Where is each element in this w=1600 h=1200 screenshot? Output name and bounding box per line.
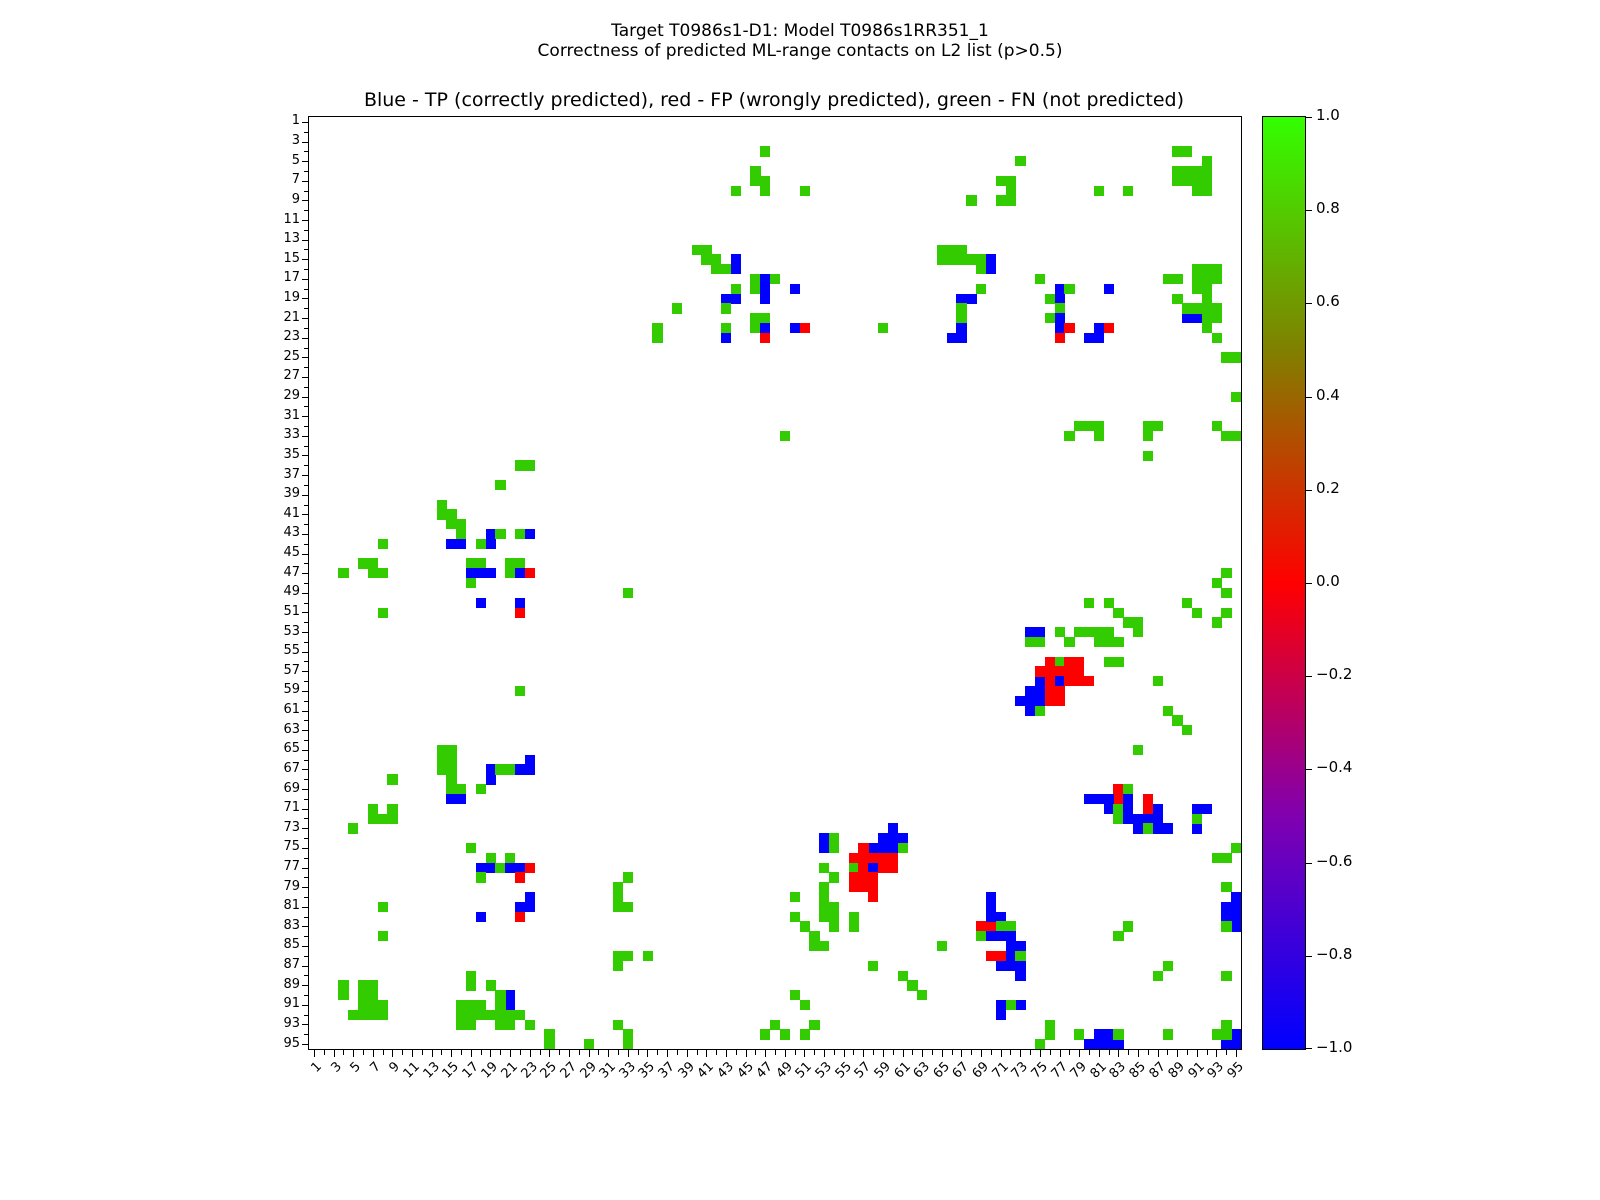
contact-cell — [888, 853, 898, 863]
contact-cell — [750, 284, 760, 294]
contact-cell — [623, 1039, 633, 1049]
contact-cell — [1212, 264, 1222, 274]
colorbar-tick-label: 1.0 — [1316, 108, 1340, 123]
contact-cell — [1055, 284, 1065, 294]
contact-cell — [780, 431, 790, 441]
contact-cell — [368, 558, 378, 568]
contact-cell — [849, 853, 859, 863]
y-tick-major — [302, 279, 309, 280]
contact-cell — [378, 1000, 388, 1010]
contact-cell — [858, 882, 868, 892]
contact-cell — [790, 990, 800, 1000]
y-tick-major — [302, 220, 309, 221]
contact-cell — [466, 578, 476, 588]
x-tick-major — [1079, 1050, 1080, 1057]
y-tick-label: 73 — [262, 821, 300, 834]
contact-cell — [672, 303, 682, 313]
contact-cell — [1015, 951, 1025, 961]
y-tick-major — [302, 455, 309, 456]
contact-cell — [446, 539, 456, 549]
contact-cell — [446, 794, 456, 804]
x-tick — [500, 1050, 501, 1055]
contact-cell — [1153, 971, 1163, 981]
contact-cell — [1143, 804, 1153, 814]
contact-cell — [790, 892, 800, 902]
contact-cell — [996, 1010, 1006, 1020]
y-tick-label: 23 — [262, 330, 300, 343]
y-tick-label: 27 — [262, 369, 300, 382]
contact-cell — [1143, 794, 1153, 804]
contact-cell — [1182, 303, 1192, 313]
contact-cell — [986, 951, 996, 961]
colorbar-tick — [1306, 303, 1312, 304]
contact-cell — [623, 951, 633, 961]
contact-cell — [515, 863, 525, 873]
contact-cell — [849, 921, 859, 931]
y-tick-label: 3 — [262, 134, 300, 147]
contact-cell — [858, 853, 868, 863]
contact-cell — [358, 990, 368, 1000]
y-tick-label: 11 — [262, 213, 300, 226]
contact-cell — [1055, 686, 1065, 696]
y-tick — [304, 740, 309, 741]
contact-cell — [868, 892, 878, 902]
contact-cell — [1123, 804, 1133, 814]
contact-cell — [1212, 617, 1222, 627]
x-tick-major — [1099, 1050, 1100, 1057]
colorbar-tick-label: 0.0 — [1316, 574, 1340, 589]
contact-cell — [947, 245, 957, 255]
contact-cell — [878, 863, 888, 873]
x-tick-major — [549, 1050, 550, 1057]
contact-cell — [476, 539, 486, 549]
contact-cell — [996, 961, 1006, 971]
contact-cell — [446, 774, 456, 784]
contact-cell — [721, 333, 731, 343]
contact-cell — [1084, 333, 1094, 343]
contact-cell — [1163, 706, 1173, 716]
x-tick-major — [432, 1050, 433, 1057]
figure-canvas: Target T0986s1-D1: Model T0986s1RR351_1 … — [0, 0, 1600, 1200]
contact-cell — [1113, 784, 1123, 794]
x-tick — [1207, 1050, 1208, 1055]
y-tick-label: 71 — [262, 801, 300, 814]
y-tick-label: 39 — [262, 487, 300, 500]
contact-cell — [466, 1020, 476, 1030]
contact-cell — [956, 313, 966, 323]
contact-cell — [368, 980, 378, 990]
contact-cell — [956, 333, 966, 343]
contact-cell — [1163, 961, 1173, 971]
x-tick-major — [844, 1050, 845, 1057]
x-tick — [618, 1050, 619, 1055]
contact-cell — [976, 254, 986, 264]
contact-cell — [1094, 186, 1104, 196]
contact-cell — [1055, 294, 1065, 304]
x-tick-major — [314, 1050, 315, 1057]
contact-cell — [525, 902, 535, 912]
x-tick — [657, 1050, 658, 1055]
contact-cell — [1202, 323, 1212, 333]
contact-cell — [966, 254, 976, 264]
contact-cell — [1212, 313, 1222, 323]
contact-cell — [525, 529, 535, 539]
contact-cell — [809, 1020, 819, 1030]
contact-cell — [996, 912, 1006, 922]
contact-cell — [1084, 794, 1094, 804]
y-tick — [304, 838, 309, 839]
contact-cell — [1163, 274, 1173, 284]
x-tick-major — [1020, 1050, 1021, 1057]
x-tick — [1167, 1050, 1168, 1055]
y-tick-major — [302, 828, 309, 829]
contact-cell — [868, 882, 878, 892]
contact-cell — [849, 882, 859, 892]
colorbar-tick — [1306, 1048, 1312, 1049]
x-tick — [755, 1050, 756, 1055]
colorbar-tick — [1306, 863, 1312, 864]
contact-cell — [623, 902, 633, 912]
contact-cell — [446, 745, 456, 755]
y-tick-label: 49 — [262, 585, 300, 598]
x-tick-major — [785, 1050, 786, 1057]
contact-cell — [1104, 637, 1114, 647]
contact-cell — [1084, 598, 1094, 608]
contact-cell — [1192, 284, 1202, 294]
contact-cell — [770, 1020, 780, 1030]
contact-cell — [1045, 657, 1055, 667]
contact-cell — [338, 568, 348, 578]
x-tick-major — [942, 1050, 943, 1057]
contact-cell — [790, 912, 800, 922]
x-tick — [441, 1050, 442, 1055]
contact-cell — [1212, 333, 1222, 343]
contact-cell — [525, 764, 535, 774]
contact-cell — [1025, 686, 1035, 696]
contact-cell — [476, 598, 486, 608]
contact-cell — [446, 755, 456, 765]
contact-cell — [1045, 686, 1055, 696]
contact-cell — [790, 284, 800, 294]
contact-cell — [1221, 902, 1231, 912]
contact-cell — [378, 1010, 388, 1020]
contact-cell — [1015, 156, 1025, 166]
contact-cell — [525, 892, 535, 902]
y-tick-label: 45 — [262, 546, 300, 559]
contact-cell — [800, 186, 810, 196]
x-tick — [461, 1050, 462, 1055]
contact-cell — [809, 941, 819, 951]
contact-cell — [1192, 264, 1202, 274]
contact-cell — [1221, 912, 1231, 922]
contact-cell — [515, 529, 525, 539]
contact-cell — [898, 833, 908, 843]
y-tick-label: 15 — [262, 252, 300, 265]
x-tick-major — [883, 1050, 884, 1057]
colorbar-tick — [1306, 397, 1312, 398]
contact-cell — [456, 539, 466, 549]
y-tick-label: 17 — [262, 271, 300, 284]
y-tick — [304, 603, 309, 604]
contact-cell — [701, 254, 711, 264]
contact-cell — [1182, 313, 1192, 323]
contact-cell — [505, 764, 515, 774]
x-tick-major — [1216, 1050, 1217, 1057]
contact-cell — [476, 784, 486, 794]
contact-cell — [1153, 676, 1163, 686]
contact-cell — [1163, 823, 1173, 833]
contact-cell — [466, 558, 476, 568]
contact-cell — [1202, 804, 1212, 814]
y-tick-major — [302, 612, 309, 613]
contact-cell — [888, 863, 898, 873]
y-tick — [304, 289, 309, 290]
contact-cell — [623, 872, 633, 882]
contact-cell — [986, 892, 996, 902]
contact-cell — [1113, 1039, 1123, 1049]
y-tick — [304, 1034, 309, 1035]
contact-cell — [1153, 823, 1163, 833]
contact-cell — [1212, 853, 1222, 863]
contact-cell — [731, 264, 741, 274]
contact-cell — [868, 872, 878, 882]
contact-cell — [378, 539, 388, 549]
contact-cell — [368, 990, 378, 1000]
contact-cell — [437, 745, 447, 755]
contact-cell — [1045, 1029, 1055, 1039]
contact-cell — [956, 294, 966, 304]
y-tick-major — [302, 632, 309, 633]
axes-title: Blue - TP (correctly predicted), red - F… — [308, 88, 1240, 112]
y-tick-major — [302, 122, 309, 123]
x-tick — [775, 1050, 776, 1055]
x-tick — [1089, 1050, 1090, 1055]
x-tick-major — [353, 1050, 354, 1057]
contact-cell — [1192, 186, 1202, 196]
contact-cell — [437, 764, 447, 774]
contact-cell — [750, 166, 760, 176]
contact-cell — [456, 1000, 466, 1010]
contact-cell — [1221, 352, 1231, 362]
x-tick-major — [1138, 1050, 1139, 1057]
contact-cell — [1015, 961, 1025, 971]
contact-cell — [1035, 637, 1045, 647]
x-tick — [1050, 1050, 1051, 1055]
contact-cell — [1104, 598, 1114, 608]
contact-cell — [1231, 1029, 1241, 1039]
y-tick-label: 35 — [262, 448, 300, 461]
contact-cell — [819, 941, 829, 951]
contact-cell — [525, 568, 535, 578]
contact-cell — [1172, 176, 1182, 186]
x-tick — [402, 1050, 403, 1055]
y-tick-label: 65 — [262, 742, 300, 755]
contact-cell — [760, 176, 770, 186]
contact-cell — [956, 254, 966, 264]
contact-cell — [1055, 676, 1065, 686]
y-tick-label: 37 — [262, 468, 300, 481]
colorbar-tick — [1306, 583, 1312, 584]
x-tick-major — [1040, 1050, 1041, 1057]
contact-cell — [1025, 696, 1035, 706]
contact-cell — [378, 902, 388, 912]
contact-cell — [1045, 313, 1055, 323]
colorbar-tick — [1306, 769, 1312, 770]
contact-cell — [613, 951, 623, 961]
x-tick-major — [412, 1050, 413, 1057]
contact-cell — [1006, 941, 1016, 951]
contact-cell — [1006, 186, 1016, 196]
contact-cell — [1192, 608, 1202, 618]
contact-cell — [878, 323, 888, 333]
contact-cell — [1221, 1020, 1231, 1030]
contact-cell — [613, 961, 623, 971]
contact-cell — [1064, 637, 1074, 647]
contact-cell — [495, 990, 505, 1000]
contact-cell — [986, 902, 996, 912]
contact-cell — [800, 1029, 810, 1039]
contact-cell — [750, 176, 760, 186]
y-tick — [304, 936, 309, 937]
contact-cell — [1104, 794, 1114, 804]
y-tick-label: 19 — [262, 291, 300, 304]
y-tick-label: 67 — [262, 762, 300, 775]
y-tick — [304, 308, 309, 309]
y-tick-major — [302, 1044, 309, 1045]
contact-cell — [800, 1000, 810, 1010]
x-tick — [873, 1050, 874, 1055]
contact-cell — [947, 333, 957, 343]
contact-cell — [1231, 392, 1241, 402]
contact-cell — [1192, 166, 1202, 176]
y-tick-major — [302, 711, 309, 712]
contact-cell — [1231, 431, 1241, 441]
x-tick — [853, 1050, 854, 1055]
contact-cell — [1035, 274, 1045, 284]
contact-cell — [1202, 166, 1212, 176]
contact-cell — [456, 519, 466, 529]
x-tick-major — [1236, 1050, 1237, 1057]
contact-cell — [760, 294, 770, 304]
contact-cell — [1055, 323, 1065, 333]
figure-suptitle-line1: Target T0986s1-D1: Model T0986s1RR351_1 — [0, 20, 1600, 42]
contact-cell — [1094, 794, 1104, 804]
contact-cell — [1202, 176, 1212, 186]
y-tick — [304, 720, 309, 721]
contact-cell — [1231, 902, 1241, 912]
contact-cell — [966, 195, 976, 205]
x-tick — [991, 1050, 992, 1055]
x-tick — [520, 1050, 521, 1055]
y-tick-label: 5 — [262, 154, 300, 167]
contact-cell — [1143, 421, 1153, 431]
x-tick-major — [510, 1050, 511, 1057]
contact-cell — [750, 323, 760, 333]
y-tick — [304, 956, 309, 957]
colorbar-tick-label: 0.6 — [1316, 294, 1340, 309]
contact-cell — [956, 245, 966, 255]
contact-cell — [1064, 666, 1074, 676]
x-tick-major — [961, 1050, 962, 1057]
contact-cell — [731, 186, 741, 196]
x-tick — [363, 1050, 364, 1055]
x-tick-major — [863, 1050, 864, 1057]
x-tick — [893, 1050, 894, 1055]
contact-cell — [1006, 961, 1016, 971]
y-tick — [304, 897, 309, 898]
contact-cell — [1113, 637, 1123, 647]
colorbar — [1262, 116, 1306, 1050]
contact-cell — [1212, 578, 1222, 588]
y-tick-major — [302, 946, 309, 947]
contact-cell — [1035, 706, 1045, 716]
contact-cell — [996, 176, 1006, 186]
x-tick — [932, 1050, 933, 1055]
y-tick — [304, 1015, 309, 1016]
contact-cell — [1094, 1039, 1104, 1049]
y-tick-label: 89 — [262, 978, 300, 991]
contact-cell — [505, 1000, 515, 1010]
contact-cell — [996, 1000, 1006, 1010]
contact-cell — [1231, 921, 1241, 931]
contact-cell — [888, 843, 898, 853]
contact-cell — [446, 519, 456, 529]
y-tick — [304, 348, 309, 349]
contact-cell — [731, 294, 741, 304]
contact-cell — [937, 245, 947, 255]
contact-cell — [868, 863, 878, 873]
contact-cell — [1015, 941, 1025, 951]
contact-cell — [947, 254, 957, 264]
x-tick — [1069, 1050, 1070, 1055]
colorbar-gradient — [1263, 117, 1305, 1049]
contact-cell — [986, 264, 996, 274]
contact-cell — [1104, 804, 1114, 814]
contact-cell — [878, 853, 888, 863]
contact-cell — [966, 294, 976, 304]
x-tick-major — [981, 1050, 982, 1057]
contact-cell — [800, 323, 810, 333]
contact-cell — [721, 294, 731, 304]
contact-cell — [437, 500, 447, 510]
contact-cell — [1055, 627, 1065, 637]
y-tick-label: 79 — [262, 880, 300, 893]
contact-cell — [1025, 706, 1035, 716]
y-tick-major — [302, 730, 309, 731]
contact-cell — [1104, 1039, 1114, 1049]
contact-cell — [476, 863, 486, 873]
y-tick-major — [302, 416, 309, 417]
contact-cell — [1231, 892, 1241, 902]
contact-cell — [809, 931, 819, 941]
y-tick — [304, 975, 309, 976]
contact-cell — [358, 980, 368, 990]
contact-cell — [1015, 696, 1025, 706]
contact-cell — [986, 912, 996, 922]
contact-cell — [1035, 627, 1045, 637]
contact-cell — [1074, 657, 1084, 667]
contact-cell — [1231, 1039, 1241, 1049]
contact-cell — [1202, 284, 1212, 294]
x-tick-major — [608, 1050, 609, 1057]
contact-cell — [466, 1010, 476, 1020]
contact-cell — [800, 921, 810, 931]
y-tick — [304, 426, 309, 427]
contact-cell — [858, 872, 868, 882]
colorbar-tick — [1306, 117, 1312, 118]
y-tick-major — [302, 161, 309, 162]
contact-cell — [986, 254, 996, 264]
